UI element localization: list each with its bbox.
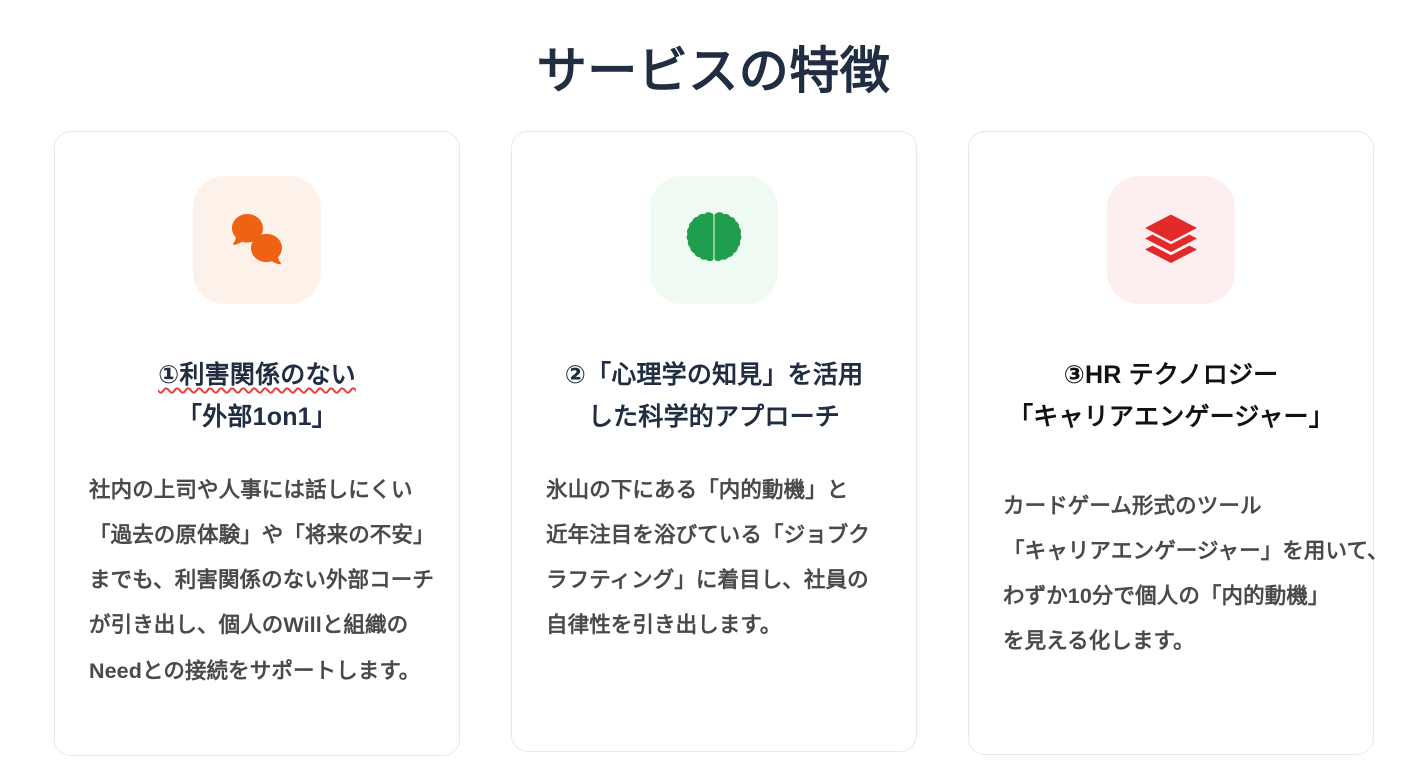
body-line: までも、利害関係のない外部コーチ	[89, 558, 425, 603]
feature-icon-tile	[193, 176, 321, 304]
feature-heading-line-2: 「外部1on1」	[177, 403, 337, 431]
body-line: 氷山の下にある「内的動機」と	[546, 468, 882, 513]
feature-card-heading: ②「心理学の知見」を活用 した科学的アプローチ	[565, 354, 864, 438]
feature-card: ②「心理学の知見」を活用 した科学的アプローチ 氷山の下にある「内的動機」と 近…	[511, 131, 917, 752]
body-line: 「キャリアエンゲージャー」を用いて、	[1003, 529, 1339, 574]
feature-card-body: 社内の上司や人事には話しにくい 「過去の原体験」や「将来の不安」 までも、利害関…	[79, 468, 435, 694]
body-line: が引き出し、個人のWillと組織の	[89, 603, 425, 648]
page-title: サービスの特徴	[0, 44, 1427, 99]
feature-icon-tile	[650, 176, 778, 304]
body-line: 近年注目を浴びている「ジョブク	[546, 513, 882, 558]
body-line: カードゲーム形式のツール	[1003, 484, 1339, 529]
body-line: 社内の上司や人事には話しにくい	[89, 468, 425, 513]
feature-heading-line-1: ③HR テクノロジー	[1064, 361, 1279, 389]
body-line: 「過去の原体験」や「将来の不安」	[89, 513, 425, 558]
feature-card-heading: ③HR テクノロジー 「キャリアエンゲージャー」	[1008, 354, 1334, 438]
feature-card-body: カードゲーム形式のツール 「キャリアエンゲージャー」を用いて、 わずか10分で個…	[993, 484, 1349, 665]
body-line: 自律性を引き出します。	[546, 603, 882, 648]
feature-card: ③HR テクノロジー 「キャリアエンゲージャー」 カードゲーム形式のツール 「キ…	[968, 131, 1374, 755]
body-line: ラフティング」に着目し、社員の	[546, 558, 882, 603]
layers-stack-icon	[1141, 210, 1201, 270]
feature-heading-line-1: ①利害関係のない	[158, 354, 356, 396]
feature-card-heading: ①利害関係のない 「外部1on1」	[158, 354, 356, 438]
speech-bubbles-icon	[225, 208, 289, 272]
body-line: を見える化します。	[1003, 619, 1339, 664]
body-line: Needとの接続をサポートします。	[89, 649, 425, 694]
features-section-page: サービスの特徴 ①利害関係のない 「外部1on1」 社内	[0, 0, 1427, 783]
body-line: わずか10分で個人の「内的動機」	[1003, 574, 1339, 619]
feature-icon-tile	[1107, 176, 1235, 304]
feature-heading-line-2: した科学的アプローチ	[588, 403, 840, 431]
feature-card: ①利害関係のない 「外部1on1」 社内の上司や人事には話しにくい 「過去の原体…	[54, 131, 460, 756]
brain-icon	[685, 208, 743, 272]
feature-card-list: ①利害関係のない 「外部1on1」 社内の上司や人事には話しにくい 「過去の原体…	[54, 131, 1374, 756]
feature-card-body: 氷山の下にある「内的動機」と 近年注目を浴びている「ジョブク ラフティング」に着…	[536, 468, 892, 649]
feature-heading-line-2: 「キャリアエンゲージャー」	[1008, 403, 1334, 431]
feature-heading-line-1: ②「心理学の知見」を活用	[565, 361, 864, 389]
